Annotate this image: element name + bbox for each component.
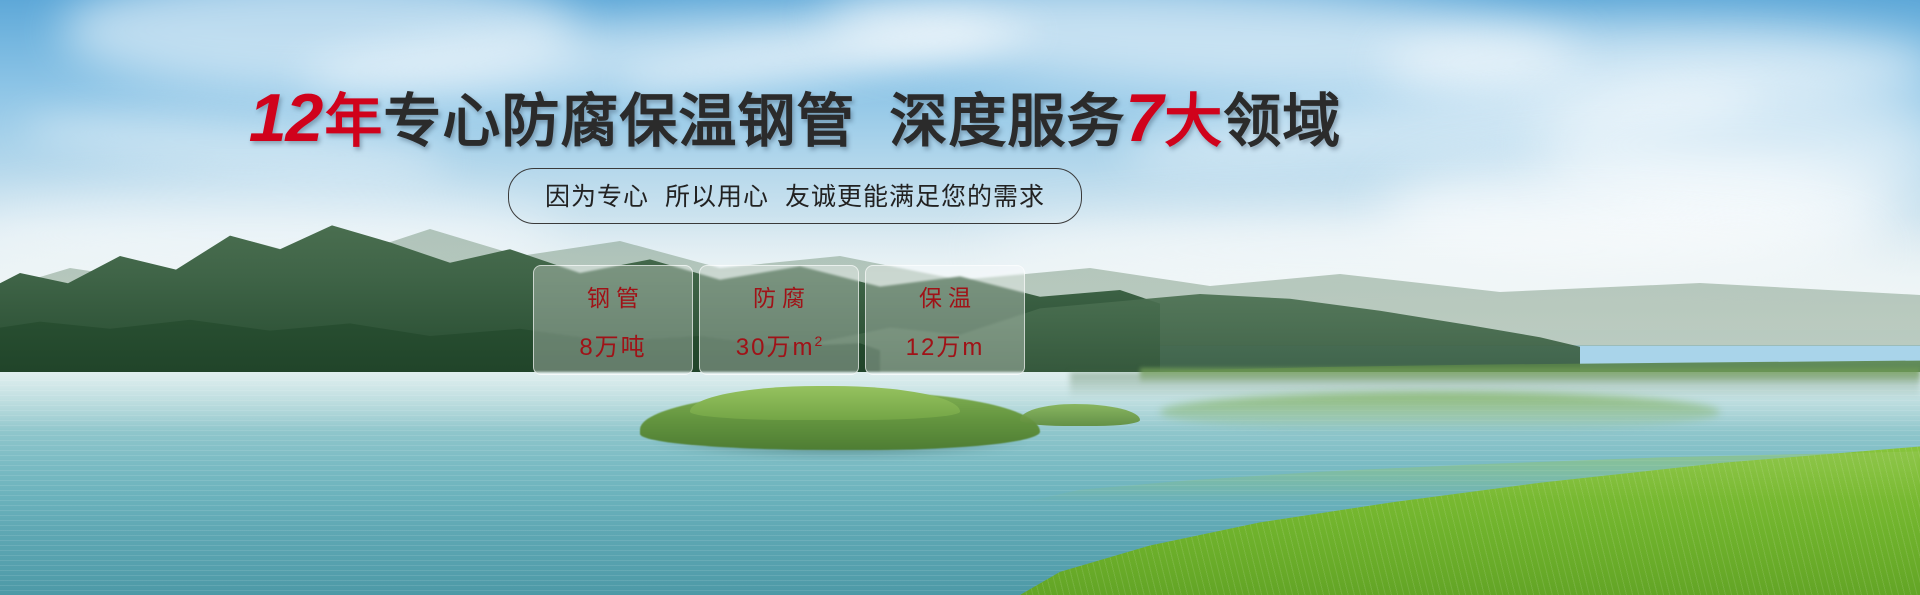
headline-service-text: 深度服务	[889, 89, 1125, 154]
hero-banner: 12年专心防腐保温钢管深度服务7大领域 因为专心所以用心友诚更能满足您的需求 钢…	[0, 0, 1920, 595]
stat-card-value-text: 12万m	[906, 334, 985, 361]
stat-card-steel-pipe: 钢管 8万吨	[533, 265, 693, 375]
headline: 12年专心防腐保温钢管深度服务7大领域	[0, 84, 1590, 152]
stat-card-value-text: 8万吨	[579, 334, 646, 361]
stat-card-value-exponent: 2	[814, 333, 822, 349]
stat-card-label: 防腐	[747, 279, 811, 313]
subtitle-container: 因为专心所以用心友诚更能满足您的需求	[0, 168, 1590, 224]
stat-card-label: 保温	[913, 279, 977, 313]
stat-card-anticorrosion: 防腐 30万m2	[699, 265, 859, 375]
stat-card-value-text: 30万m	[736, 334, 815, 361]
headline-years-unit: 年	[324, 89, 383, 154]
subtitle-segment-2: 所以用心	[665, 183, 769, 211]
subtitle-segment-1: 因为专心	[545, 183, 649, 211]
headline-fields-unit: 大	[1164, 89, 1223, 154]
banner-content: 12年专心防腐保温钢管深度服务7大领域 因为专心所以用心友诚更能满足您的需求 钢…	[0, 0, 1920, 595]
headline-years-number: 12	[249, 80, 325, 156]
headline-fields-text: 领域	[1223, 89, 1341, 154]
subtitle-pill: 因为专心所以用心友诚更能满足您的需求	[508, 168, 1082, 224]
stat-card-list: 钢管 8万吨 防腐 30万m2 保温 12万m	[533, 265, 1025, 375]
stat-card-label: 钢管	[581, 279, 645, 313]
headline-fields-number: 7	[1125, 80, 1164, 156]
stat-card-value: 12万m	[906, 327, 985, 362]
subtitle-segment-3: 友诚更能满足您的需求	[785, 183, 1045, 211]
stat-card-insulation: 保温 12万m	[865, 265, 1025, 375]
stat-card-value: 30万m2	[736, 327, 822, 362]
headline-main-text: 专心防腐保温钢管	[383, 89, 855, 154]
stat-card-value: 8万吨	[579, 327, 646, 362]
